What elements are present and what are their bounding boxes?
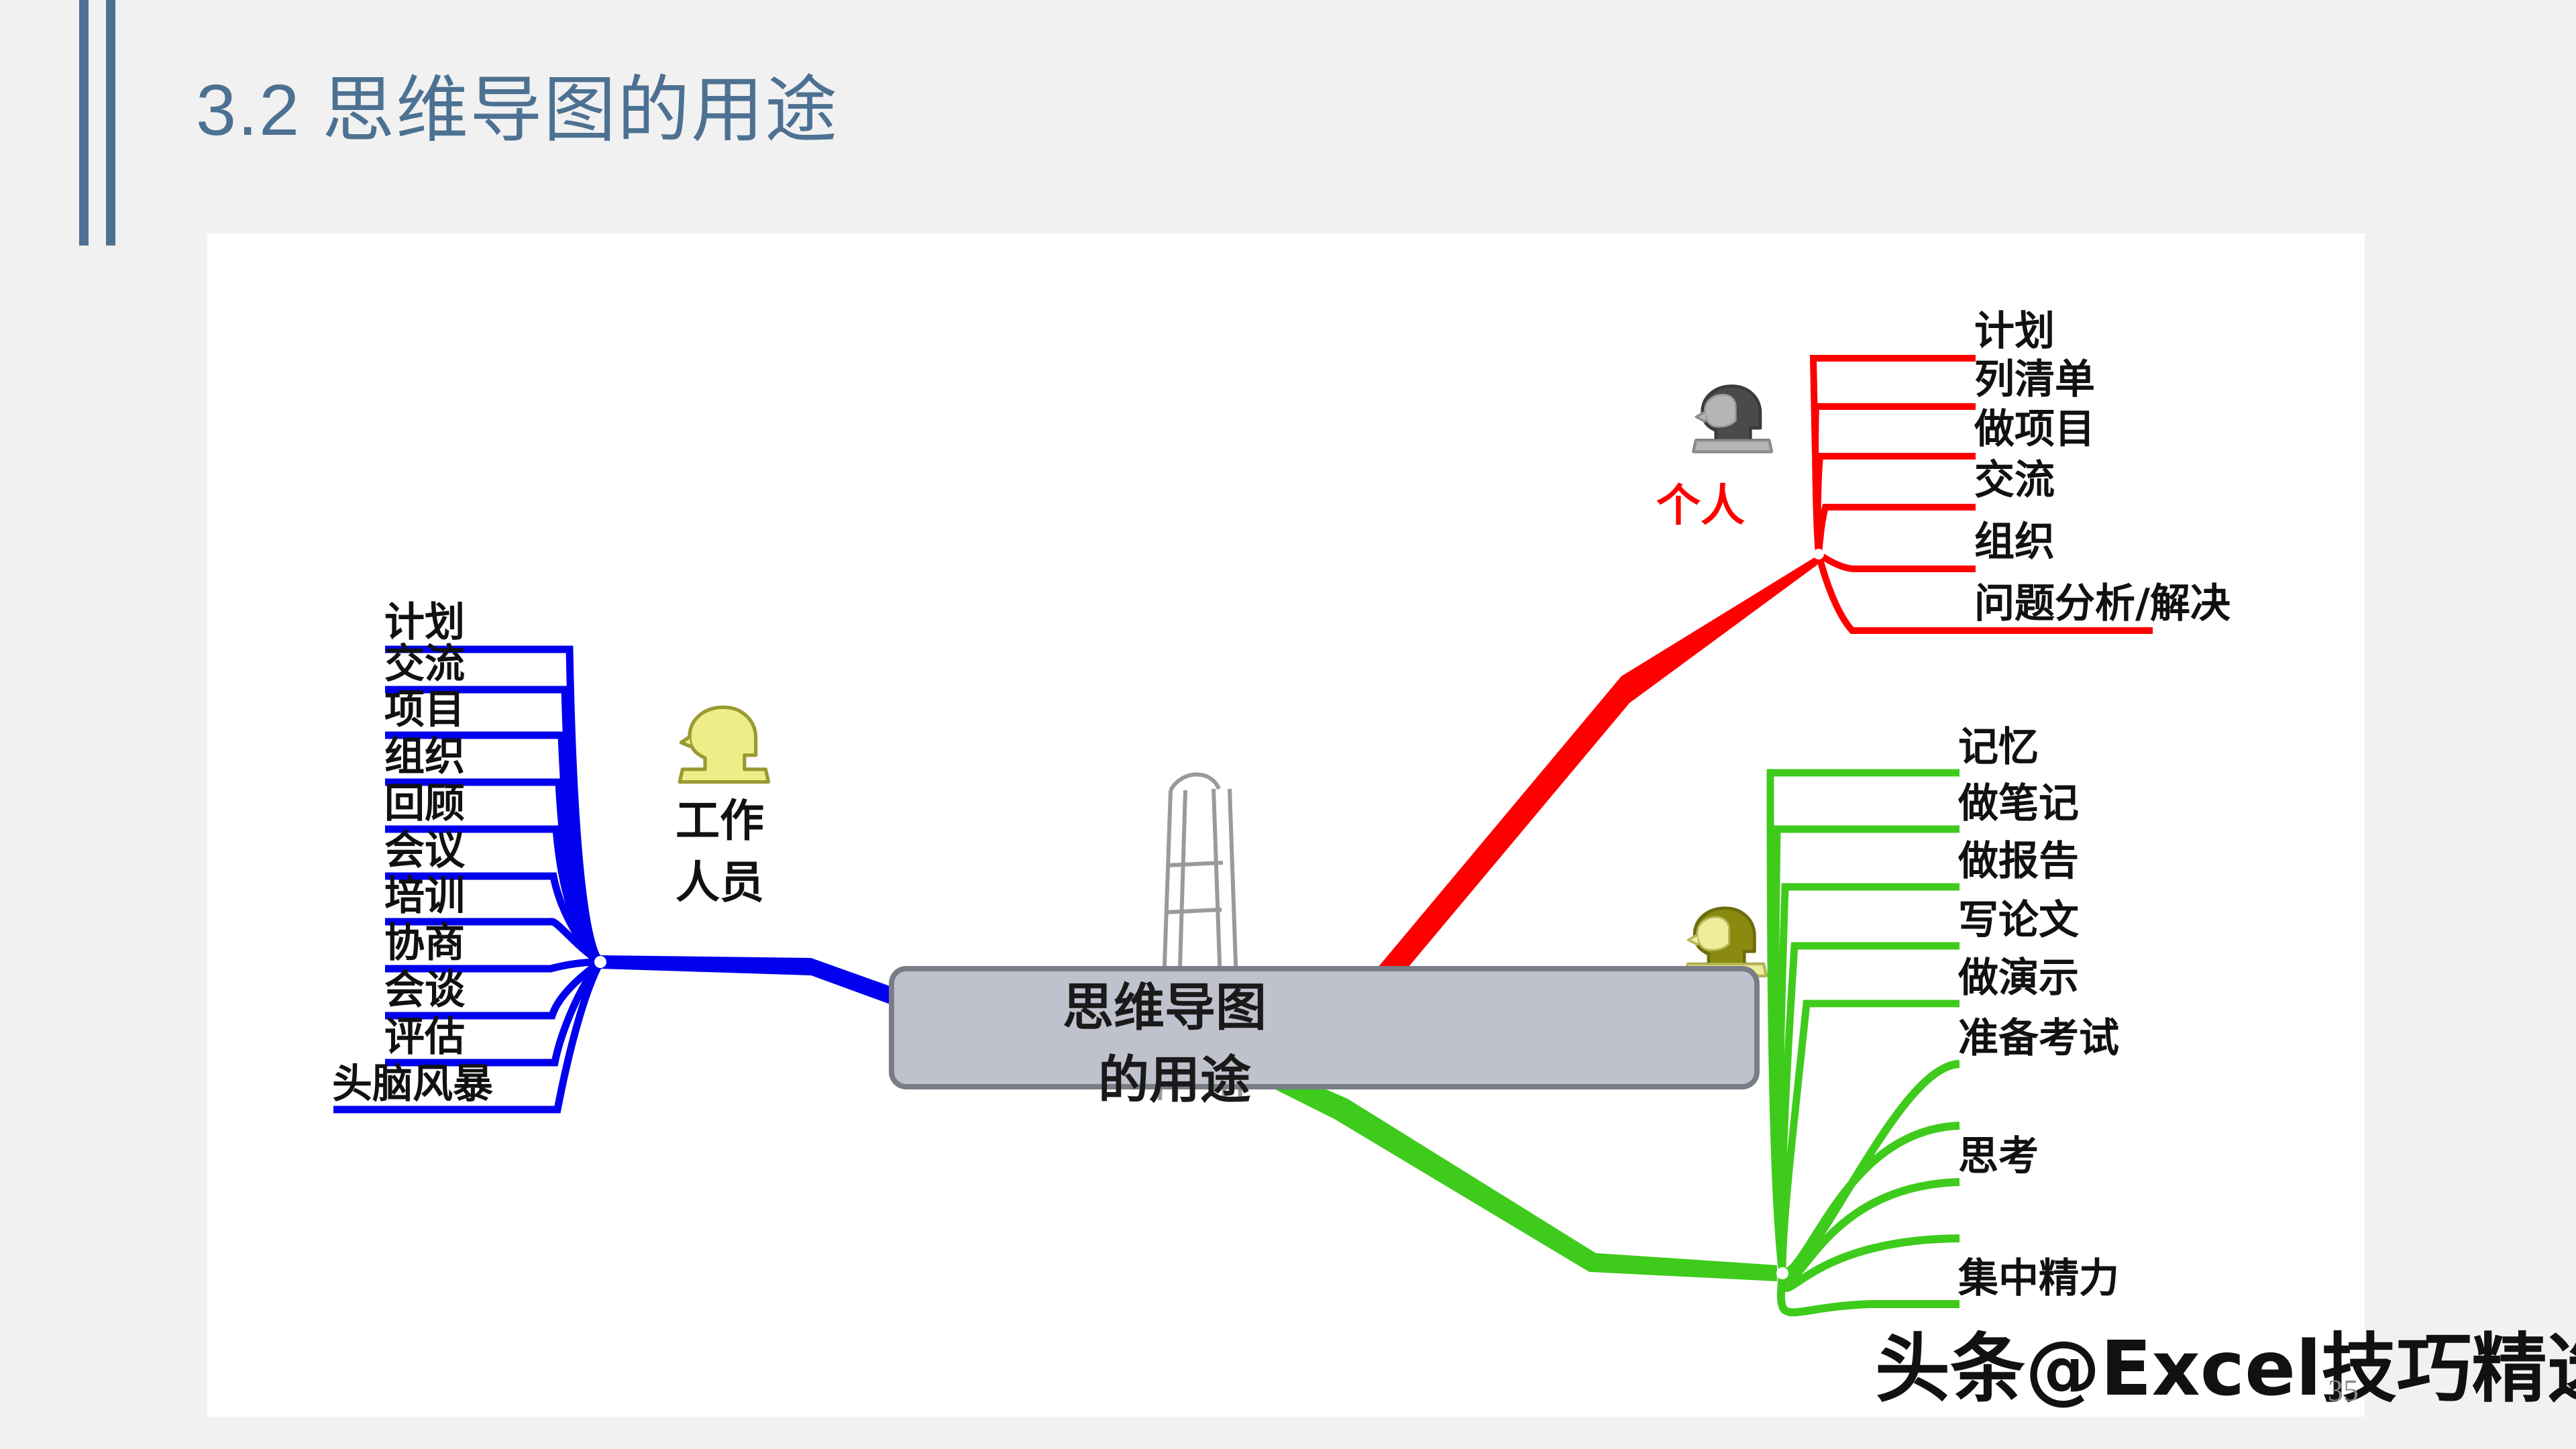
watermark-text: 头条@Excel技巧精选 [1875, 1332, 2576, 1407]
leaf-learner-0: 记忆 [1958, 724, 2039, 771]
branch-label-workers-line2: 人员 [676, 857, 764, 908]
leaf-learner-2: 做报告 [1957, 838, 2079, 885]
leaf-learner-7: 集中精力 [1957, 1255, 2119, 1302]
leaf-workers-3: 组织 [384, 733, 465, 780]
leaf-workers-8: 会谈 [384, 967, 466, 1014]
leaf-learner-6: 思考 [1958, 1133, 2039, 1180]
leaf-workers-0: 计划 [384, 599, 465, 646]
branch-label-individual: 个人 [1656, 480, 1745, 531]
hub-dot-workers [594, 956, 606, 968]
accent-bar-inner [106, 0, 115, 246]
leaf-learner-5: 准备考试 [1958, 1015, 2119, 1062]
center-node-line1: 思维导图 [1063, 977, 1267, 1037]
leaf-workers-4: 回顾 [384, 780, 465, 827]
person-bust-icon-individual [1694, 386, 1772, 452]
center-node-line2: 的用途 [1098, 1050, 1251, 1110]
leaf-individual-1: 列清单 [1974, 356, 2095, 403]
leaf-workers-9: 评估 [384, 1014, 465, 1061]
connector-individual-3 [1819, 507, 1976, 554]
branch-individual: 计划 列清单 做项目 交流 组织 问题分析/解决 个人 [1301, 308, 2231, 1006]
leaf-individual-2: 做项目 [1974, 406, 2095, 453]
branch-label-workers-line1: 工作 [676, 795, 764, 847]
leaf-learner-3: 写论文 [1958, 897, 2079, 944]
leaf-learner-1: 做笔记 [1957, 780, 2079, 827]
leaf-workers-5: 会议 [384, 827, 466, 874]
mindmap-diagram: 计划 交流 项目 组织 回顾 会议 培训 协商 会谈 评估 头脑风暴 工作 人员 [207, 233, 2365, 1417]
leaf-workers-2: 项目 [384, 686, 465, 733]
accent-bar-outer [79, 0, 89, 246]
page-number: 35 [2328, 1373, 2359, 1408]
center-node: 思维导图 的用途 [892, 774, 1757, 1110]
hub-dot-individual [1813, 549, 1824, 559]
leaf-individual-5: 问题分析/解决 [1974, 580, 2231, 627]
person-bust-icon-learner [1686, 908, 1766, 976]
connector-learner-0 [1770, 773, 1960, 1273]
leaf-individual-3: 交流 [1974, 457, 2055, 504]
leaf-learner-4: 做演示 [1957, 955, 2079, 1002]
title-accent-bars [79, 0, 126, 246]
hub-dot-learner [1776, 1267, 1788, 1279]
leaf-workers-1: 交流 [384, 641, 465, 688]
page-title: 3.2 思维导图的用途 [196, 74, 839, 146]
leaf-workers-6: 培训 [384, 873, 465, 920]
connector-individual-1 [1815, 407, 1976, 554]
mindmap-image-panel: 计划 交流 项目 组织 回顾 会议 培训 协商 会谈 评估 头脑风暴 工作 人员 [207, 233, 2365, 1417]
center-node-box [892, 969, 1757, 1087]
leaf-workers-7: 协商 [384, 920, 465, 967]
leaf-individual-4: 组织 [1974, 519, 2055, 566]
leaf-workers-10: 头脑风暴 [332, 1061, 493, 1108]
leaf-individual-0: 计划 [1974, 308, 2055, 355]
person-bust-icon-workers [680, 707, 768, 782]
connector-individual-4 [1819, 554, 1976, 569]
